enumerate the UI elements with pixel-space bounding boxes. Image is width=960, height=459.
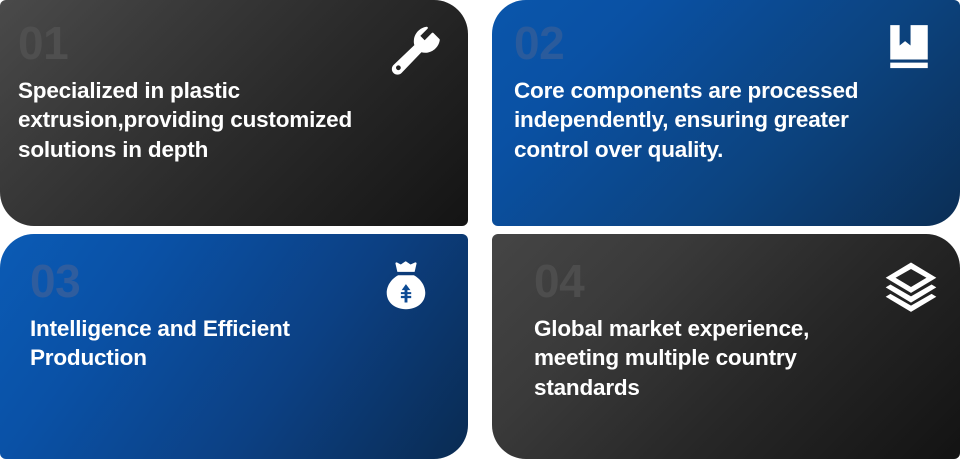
card-text-01: Specialized in plastic extrusion,providi… [18,76,442,164]
feature-card-01[interactable]: 01 Specialized in plastic extrusion,prov… [0,0,468,226]
book-bookmark-icon [884,22,934,72]
card-number-01: 01 [18,20,442,66]
layers-stack-icon [884,260,938,314]
money-bag-yen-icon [380,258,432,314]
feature-card-04[interactable]: 04 Global market experience, meeting mul… [492,234,960,459]
feature-card-03[interactable]: 03 Intelligence and Efficient Production [0,234,468,459]
card-text-04: Global market experience, meeting multip… [534,314,934,402]
card-number-04: 04 [534,258,934,304]
card-text-03: Intelligence and Efficient Production [30,314,442,373]
card-number-02: 02 [514,20,934,66]
wrench-icon [386,24,440,78]
feature-card-02[interactable]: 02 Core components are processed indepen… [492,0,960,226]
feature-card-grid: 01 Specialized in plastic extrusion,prov… [0,0,960,459]
card-text-02: Core components are processed independen… [514,76,934,164]
